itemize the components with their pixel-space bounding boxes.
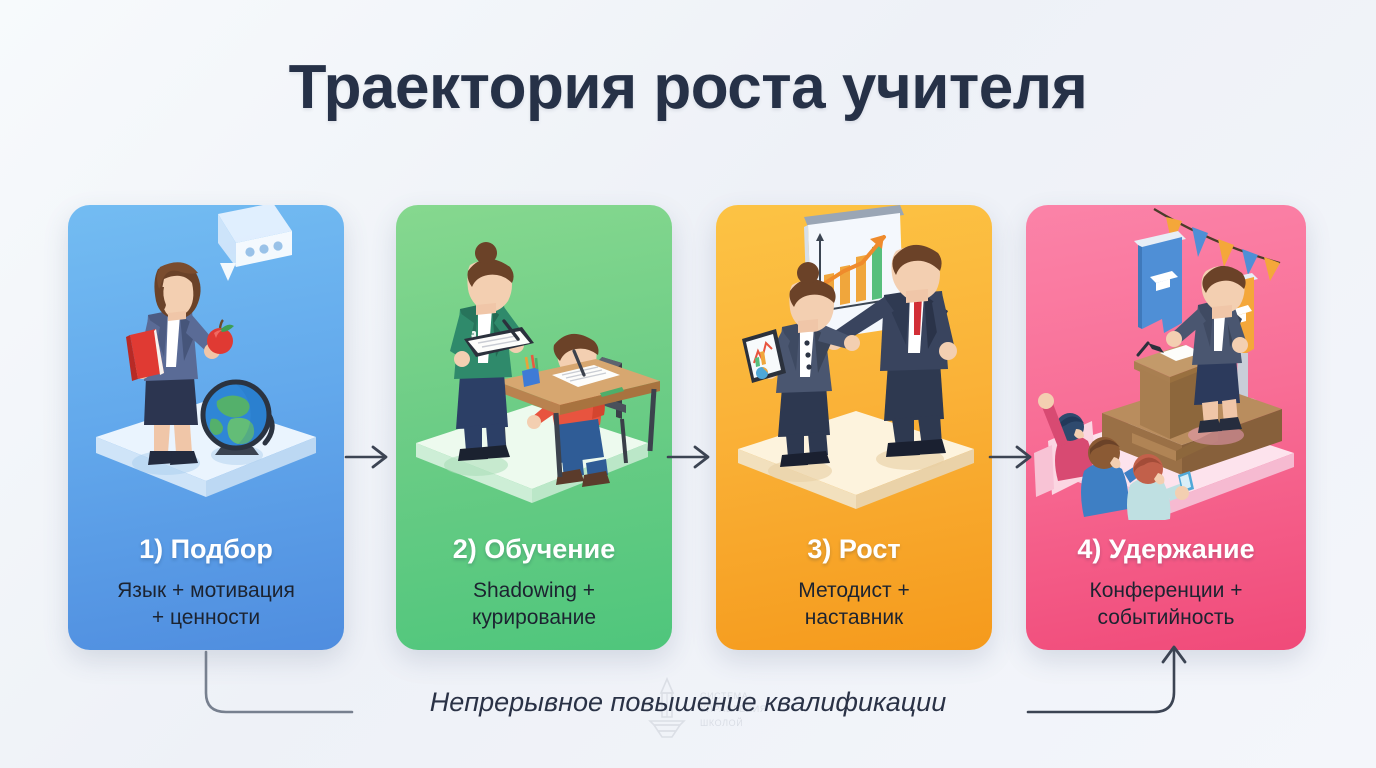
step-heading-rost: 3) Рост [724, 535, 984, 565]
step-card-text-rost: 3) Рост Методист + наставник [724, 535, 984, 632]
step-heading-uderzhanie: 4) Удержание [1034, 535, 1298, 565]
illustration-teacher-with-apple-and-globe [68, 205, 344, 520]
step-card-text-podbor: 1) Подбор Язык + мотивация + ценности [76, 535, 336, 632]
step-heading-podbor: 1) Подбор [76, 535, 336, 565]
step-card-text-obuchenie: 2) Обучение Shadowing + курирование [404, 535, 664, 632]
illustration-teacher-observing-student-at-desk [396, 205, 672, 520]
infographic-canvas: Траектория роста учителя [0, 0, 1376, 768]
step-card-obuchenie[interactable]: 2) Обучение Shadowing + курирование [396, 205, 672, 650]
illustration-conference-speaker-at-podium [1026, 205, 1306, 520]
step-subtitle-podbor: Язык + мотивация + ценности [76, 577, 336, 632]
step-card-uderzhanie[interactable]: 4) Удержание Конференции + событийность [1026, 205, 1306, 650]
illustration-two-presenters-with-growth-chart [716, 205, 992, 520]
step-subtitle-obuchenie: Shadowing + курирование [404, 577, 664, 632]
step-card-text-uderzhanie: 4) Удержание Конференции + событийность [1034, 535, 1298, 632]
feedback-loop-caption: Непрерывное повышение квалификации [0, 687, 1376, 718]
step-heading-obuchenie: 2) Обучение [404, 535, 664, 565]
step-subtitle-rost: Методист + наставник [724, 577, 984, 632]
step-subtitle-uderzhanie: Конференции + событийность [1034, 577, 1298, 632]
step-card-podbor[interactable]: 1) Подбор Язык + мотивация + ценности [68, 205, 344, 650]
page-title: Траектория роста учителя [0, 52, 1376, 123]
arrow-step-1-to-2-icon [344, 440, 394, 474]
arrow-step-3-to-4-icon [988, 440, 1038, 474]
arrow-step-2-to-3-icon [666, 440, 716, 474]
step-card-rost[interactable]: 3) Рост Методист + наставник [716, 205, 992, 650]
